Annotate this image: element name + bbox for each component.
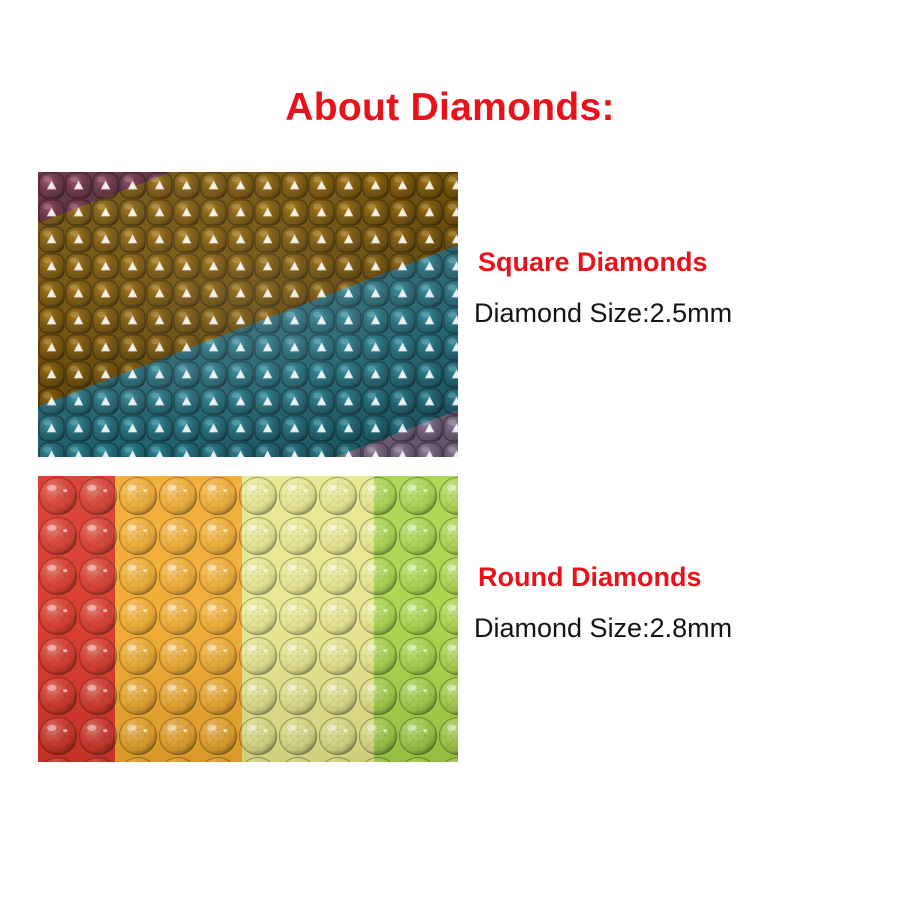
round-diamonds-photo: [38, 476, 458, 762]
square-diamonds-caption: Square Diamonds Diamond Size:2.5mm: [478, 248, 732, 328]
page-title: About Diamonds:: [0, 88, 900, 129]
square-diamonds-heading: Square Diamonds: [478, 248, 732, 278]
square-diamonds-size: Diamond Size:2.5mm: [474, 299, 732, 329]
round-diamonds-size: Diamond Size:2.8mm: [474, 614, 732, 644]
round-diamonds-caption: Round Diamonds Diamond Size:2.8mm: [478, 563, 732, 643]
square-diamonds-photo: [38, 172, 458, 457]
round-bead-lattice: [38, 476, 458, 762]
about-diamonds-page: About Diamonds: Square Diamonds Diamond …: [0, 0, 900, 900]
round-diamonds-heading: Round Diamonds: [478, 563, 732, 593]
square-bead-lattice: [38, 172, 458, 457]
